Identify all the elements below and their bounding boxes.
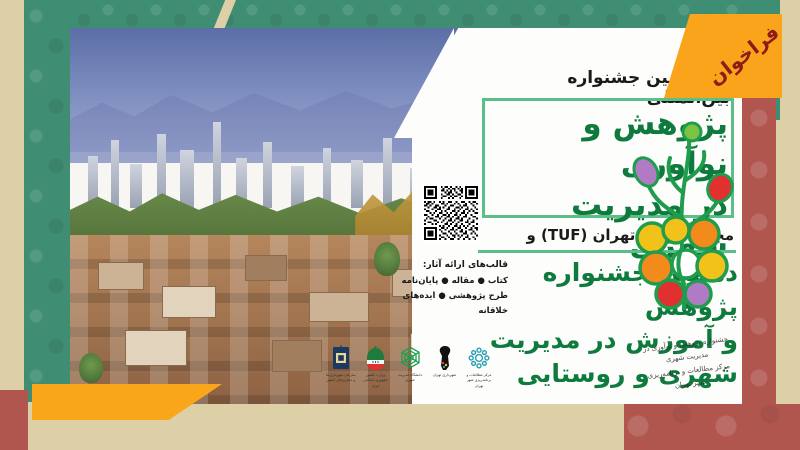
house bbox=[125, 330, 187, 366]
persepolis-figure-icon bbox=[430, 344, 460, 372]
logo-item[interactable]: مرکز مطالعات و برنامه‌ریزی شهر تهران bbox=[464, 344, 494, 389]
house bbox=[245, 255, 287, 281]
sponsor-logos-row: مرکز مطالعات و برنامه‌ریزی شهر تهران شهر… bbox=[326, 344, 494, 390]
building bbox=[263, 142, 272, 208]
islamic-star-icon bbox=[395, 344, 425, 372]
logo-item[interactable]: سازمان شهرداری‌ها و دهیاری‌های کشور bbox=[326, 344, 356, 384]
left-tan-edge bbox=[0, 0, 24, 450]
book-seal-icon bbox=[326, 344, 356, 372]
logo-item[interactable]: شهرداری تهران bbox=[430, 344, 460, 378]
right-red-border bbox=[742, 96, 776, 450]
bottom-left-red-edge bbox=[0, 390, 28, 450]
building bbox=[291, 166, 304, 208]
building bbox=[213, 122, 221, 208]
house bbox=[309, 292, 369, 322]
building bbox=[180, 150, 194, 208]
tree bbox=[79, 353, 103, 383]
house bbox=[98, 262, 144, 290]
top-green-border bbox=[0, 0, 800, 28]
logo-item[interactable]: دانشگاه مدیریت شهری bbox=[395, 344, 425, 384]
building bbox=[351, 160, 363, 208]
building bbox=[383, 138, 392, 208]
logo-caption: سازمان شهرداری‌ها و دهیاری‌های کشور bbox=[326, 373, 356, 384]
house bbox=[272, 340, 322, 372]
building bbox=[111, 140, 119, 208]
floral-ornament-icon bbox=[626, 108, 738, 318]
left-green-border bbox=[22, 0, 70, 404]
qr-code[interactable] bbox=[422, 184, 480, 242]
snowflake-rosette-icon bbox=[464, 344, 494, 372]
iran-emblem-dome-icon bbox=[361, 344, 391, 372]
logo-caption: دانشگاه مدیریت شهری bbox=[395, 373, 425, 384]
poster-canvas: قالب‌های ارائه آثار: کتاب ● مقاله ● پایا… bbox=[0, 0, 800, 450]
logo-item[interactable]: وزارت کشور جمهوری اسلامی ایران bbox=[361, 344, 391, 389]
logo-caption: وزارت کشور جمهوری اسلامی ایران bbox=[361, 373, 391, 389]
building bbox=[130, 164, 142, 208]
logo-caption: شهرداری تهران bbox=[430, 373, 460, 378]
house bbox=[162, 286, 216, 318]
logo-caption: مرکز مطالعات و برنامه‌ریزی شهر تهران bbox=[464, 373, 494, 389]
